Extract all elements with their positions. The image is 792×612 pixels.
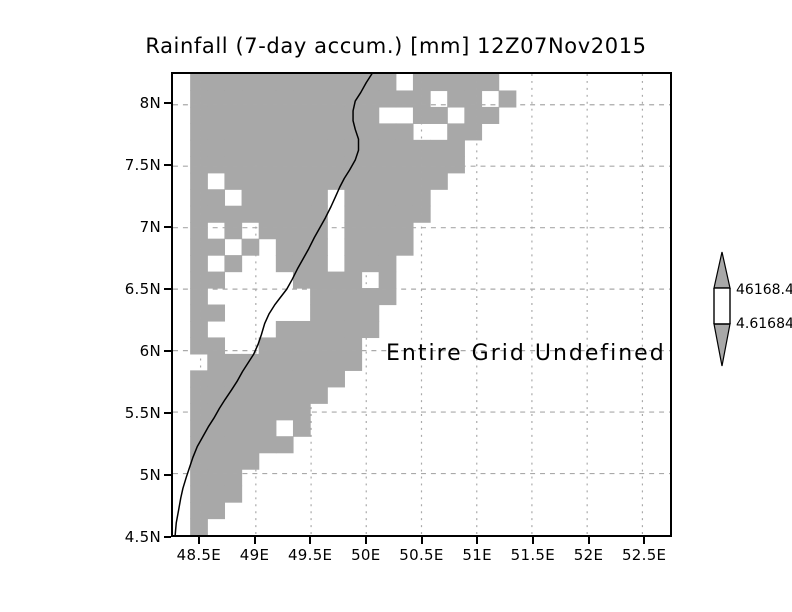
shaded-cell: [259, 337, 277, 354]
shaded-cell: [276, 173, 294, 190]
y-axis-tick-mark: [164, 412, 171, 414]
shaded-cell: [190, 272, 208, 289]
shaded-cell: [242, 123, 260, 140]
shaded-cell: [310, 370, 328, 387]
shaded-cell: [362, 140, 380, 157]
shaded-cell: [310, 206, 328, 223]
shaded-cell: [327, 354, 345, 371]
shaded-cell: [310, 107, 328, 124]
shaded-cell: [344, 321, 362, 338]
shaded-cell: [259, 74, 277, 91]
shaded-cell: [190, 469, 208, 486]
shaded-cell: [259, 370, 277, 387]
shaded-cell: [276, 239, 294, 256]
shaded-cell: [310, 255, 328, 272]
shaded-cell: [293, 173, 311, 190]
shaded-cell: [293, 370, 311, 387]
shaded-cell: [396, 189, 414, 206]
y-axis-tick-mark: [164, 226, 171, 228]
shaded-cell: [224, 453, 242, 470]
shaded-cell: [293, 420, 311, 437]
shaded-cell: [207, 107, 225, 124]
x-axis-tick-mark: [643, 537, 645, 544]
shaded-cell: [207, 206, 225, 223]
shaded-cell: [362, 239, 380, 256]
shaded-cell: [259, 156, 277, 173]
shaded-cell: [327, 123, 345, 140]
shaded-cell: [379, 222, 397, 239]
shaded-cell: [224, 206, 242, 223]
shaded-cell: [207, 239, 225, 256]
shaded-cell: [396, 239, 414, 256]
shaded-cell: [224, 222, 242, 239]
shaded-cell: [276, 107, 294, 124]
y-axis-tick-label: 6N: [95, 342, 161, 360]
shaded-cell: [293, 74, 311, 91]
shaded-cell: [207, 189, 225, 206]
x-axis-tick-label: 51.5E: [511, 546, 555, 564]
shaded-cell: [293, 123, 311, 140]
shaded-cell: [413, 173, 431, 190]
shaded-cell: [190, 222, 208, 239]
shaded-cell: [190, 420, 208, 437]
y-axis-tick-label: 4.5N: [95, 528, 161, 546]
shaded-cell: [293, 189, 311, 206]
shaded-cell: [344, 206, 362, 223]
shaded-cell: [464, 107, 482, 124]
shaded-cell: [327, 272, 345, 289]
shaded-cell: [224, 469, 242, 486]
shaded-cell: [224, 123, 242, 140]
shaded-cell: [190, 74, 208, 91]
shaded-cell: [344, 354, 362, 371]
y-axis-tick-label: 5N: [95, 466, 161, 484]
shaded-cell: [224, 354, 242, 371]
shaded-cell: [327, 321, 345, 338]
shaded-cell: [242, 107, 260, 124]
shaded-cell: [207, 387, 225, 404]
shaded-cell: [293, 337, 311, 354]
shaded-cell: [327, 370, 345, 387]
x-axis-tick-mark: [476, 537, 478, 544]
colorbar-top-arrow: [714, 252, 730, 288]
shaded-cell: [207, 140, 225, 157]
shaded-cell: [362, 222, 380, 239]
shaded-cell: [430, 156, 448, 173]
y-axis-tick-label: 6.5N: [95, 280, 161, 298]
shaded-cell: [190, 255, 208, 272]
shaded-cell: [259, 107, 277, 124]
shaded-cell: [276, 337, 294, 354]
shaded-cell: [362, 123, 380, 140]
shaded-cell: [276, 156, 294, 173]
shaded-cell: [276, 354, 294, 371]
shaded-cell: [379, 140, 397, 157]
shaded-cell: [379, 272, 397, 289]
shaded-cell: [259, 206, 277, 223]
shaded-cell: [447, 123, 465, 140]
shaded-cell: [396, 123, 414, 140]
shaded-cell: [293, 387, 311, 404]
shaded-cell: [276, 74, 294, 91]
shaded-cell: [207, 370, 225, 387]
y-axis-tick-mark: [164, 288, 171, 290]
shaded-cell: [276, 222, 294, 239]
shaded-cell: [344, 305, 362, 322]
shaded-cell: [190, 156, 208, 173]
x-axis-tick-label: 48.5E: [177, 546, 221, 564]
shaded-cell: [310, 272, 328, 289]
shaded-cell: [310, 140, 328, 157]
colorbar-label-upper: 46168.4: [736, 282, 792, 298]
shaded-cell: [396, 206, 414, 223]
shaded-cell: [293, 107, 311, 124]
shaded-cell: [430, 74, 448, 91]
shaded-cell: [276, 123, 294, 140]
shaded-cell: [207, 502, 225, 519]
shaded-cell: [224, 107, 242, 124]
colorbar-label-lower: 4.61684: [736, 316, 792, 332]
shaded-cell: [310, 321, 328, 338]
shaded-cell: [259, 387, 277, 404]
shaded-cell: [464, 123, 482, 140]
shaded-cell: [327, 74, 345, 91]
x-axis-tick-mark: [532, 537, 534, 544]
shaded-cell: [190, 189, 208, 206]
shaded-cell: [481, 74, 499, 91]
shaded-cell: [207, 156, 225, 173]
shaded-cell: [447, 74, 465, 91]
y-axis-tick-label: 7N: [95, 218, 161, 236]
shaded-cell: [190, 519, 208, 535]
shaded-cell: [430, 173, 448, 190]
shaded-cell: [293, 255, 311, 272]
x-axis-tick-mark: [309, 537, 311, 544]
shaded-cell: [379, 206, 397, 223]
shaded-cell: [396, 140, 414, 157]
shaded-cell: [276, 255, 294, 272]
shaded-cell: [190, 140, 208, 157]
shaded-cell: [207, 305, 225, 322]
shaded-cell: [207, 337, 225, 354]
shaded-cell: [362, 107, 380, 124]
shaded-cell: [344, 123, 362, 140]
shaded-cell: [344, 255, 362, 272]
shaded-cell: [447, 140, 465, 157]
shaded-cell: [276, 387, 294, 404]
map-canvas: [173, 74, 670, 535]
shaded-cell: [259, 222, 277, 239]
shaded-cell: [396, 156, 414, 173]
shaded-cell: [293, 239, 311, 256]
x-axis-tick-label: 52.5E: [622, 546, 666, 564]
shaded-cell: [362, 156, 380, 173]
shaded-cell: [379, 239, 397, 256]
x-axis-tick-label: 49.5E: [288, 546, 332, 564]
shaded-cell: [190, 107, 208, 124]
x-axis-tick-label: 49E: [240, 546, 269, 564]
y-axis-tick-mark: [164, 350, 171, 352]
shaded-cell: [259, 173, 277, 190]
shaded-cell: [259, 420, 277, 437]
shaded-cell: [224, 255, 242, 272]
shaded-cell: [430, 107, 448, 124]
shaded-cell: [190, 173, 208, 190]
shaded-cell: [259, 140, 277, 157]
shaded-cell: [310, 305, 328, 322]
shaded-cell: [224, 156, 242, 173]
x-axis-tick-mark: [365, 537, 367, 544]
shaded-cell: [242, 74, 260, 91]
shaded-cell: [242, 189, 260, 206]
shaded-cell: [310, 189, 328, 206]
shaded-cell: [327, 337, 345, 354]
shaded-cell: [362, 189, 380, 206]
shaded-cell: [190, 288, 208, 305]
shaded-cell: [293, 140, 311, 157]
shaded-cell: [327, 288, 345, 305]
shaded-cell: [224, 173, 242, 190]
shaded-cell: [293, 222, 311, 239]
shaded-cell: [224, 370, 242, 387]
y-axis-tick-mark: [164, 536, 171, 538]
shaded-cell: [259, 436, 277, 453]
entire-grid-undefined-note: Entire Grid Undefined: [386, 341, 666, 366]
shaded-cell: [413, 189, 431, 206]
colorbar-middle-band: [714, 288, 730, 324]
shaded-cell: [430, 140, 448, 157]
x-axis-tick-mark: [421, 537, 423, 544]
shaded-cell: [293, 321, 311, 338]
shaded-cell: [327, 140, 345, 157]
shaded-cell: [190, 387, 208, 404]
x-axis-tick-mark: [254, 537, 256, 544]
shaded-cell: [242, 156, 260, 173]
shaded-cell: [310, 288, 328, 305]
shaded-cell: [190, 502, 208, 519]
shaded-cell: [464, 74, 482, 91]
shaded-cell: [207, 272, 225, 289]
y-axis-tick-mark: [164, 164, 171, 166]
shaded-cell: [362, 321, 380, 338]
shaded-cell: [310, 74, 328, 91]
shaded-cell: [276, 140, 294, 157]
shaded-cell: [224, 486, 242, 503]
shaded-cell: [293, 206, 311, 223]
x-axis-tick-mark: [198, 537, 200, 544]
shaded-cell: [344, 288, 362, 305]
shaded-cell: [362, 173, 380, 190]
y-axis-tick-label: 7.5N: [95, 156, 161, 174]
shaded-cell: [310, 123, 328, 140]
shaded-cell: [242, 173, 260, 190]
shaded-cell: [190, 337, 208, 354]
shaded-cell: [242, 387, 260, 404]
y-axis-tick-mark: [164, 102, 171, 104]
shaded-cell: [344, 222, 362, 239]
shaded-cell: [190, 453, 208, 470]
shaded-cell: [310, 354, 328, 371]
shaded-cell: [344, 337, 362, 354]
shaded-cell: [379, 255, 397, 272]
shaded-cell: [207, 469, 225, 486]
shaded-cell: [207, 354, 225, 371]
shaded-cell: [362, 305, 380, 322]
x-axis-tick-label: 50E: [351, 546, 380, 564]
shaded-cell: [242, 370, 260, 387]
shaded-cell: [224, 436, 242, 453]
shaded-cell: [362, 206, 380, 223]
shaded-cell: [224, 420, 242, 437]
shaded-cell: [190, 305, 208, 322]
shaded-cell: [276, 206, 294, 223]
y-axis-tick-label: 8N: [95, 94, 161, 112]
shaded-cell: [207, 486, 225, 503]
colorbar[interactable]: [705, 250, 739, 370]
shaded-cell: [379, 123, 397, 140]
colorbar-swatches: [705, 250, 739, 370]
shaded-cell: [310, 337, 328, 354]
shaded-cell: [259, 123, 277, 140]
shaded-cell: [481, 107, 499, 124]
shaded-cell: [310, 173, 328, 190]
shaded-cell: [207, 420, 225, 437]
shaded-cell: [344, 272, 362, 289]
shaded-cell: [413, 140, 431, 157]
shaded-cell: [276, 436, 294, 453]
shaded-cell: [190, 321, 208, 338]
shaded-cell: [276, 321, 294, 338]
shaded-cell: [242, 453, 260, 470]
shaded-cell: [224, 74, 242, 91]
shaded-cell: [242, 206, 260, 223]
colorbar-bottom-arrow: [714, 324, 730, 366]
y-axis-tick-mark: [164, 474, 171, 476]
shaded-cell: [327, 107, 345, 124]
shaded-cell: [379, 156, 397, 173]
shaded-cell: [242, 420, 260, 437]
shaded-cell: [224, 140, 242, 157]
shaded-cell: [344, 74, 362, 91]
shaded-cell: [293, 156, 311, 173]
shaded-cell: [327, 305, 345, 322]
shaded-cell: [242, 239, 260, 256]
shaded-cell: [259, 354, 277, 371]
map-plot-area[interactable]: Entire Grid Undefined: [171, 72, 672, 537]
shaded-cell: [242, 140, 260, 157]
shaded-cell: [190, 239, 208, 256]
shaded-cell: [276, 370, 294, 387]
shaded-cell: [242, 436, 260, 453]
shaded-cell: [327, 156, 345, 173]
page-title: Rainfall (7-day accum.) [mm] 12Z07Nov201…: [0, 34, 792, 58]
shaded-cell: [190, 123, 208, 140]
shaded-cell: [379, 74, 397, 91]
shaded-cell: [379, 288, 397, 305]
shaded-cell: [259, 189, 277, 206]
shaded-cell: [276, 189, 294, 206]
shaded-cell: [344, 239, 362, 256]
shaded-cell: [362, 255, 380, 272]
x-axis-tick-label: 52E: [574, 546, 603, 564]
shaded-cell: [190, 206, 208, 223]
shaded-cell: [447, 156, 465, 173]
shaded-cell: [310, 156, 328, 173]
y-axis-tick-label: 5.5N: [95, 404, 161, 422]
shaded-cell: [293, 354, 311, 371]
shaded-cell: [207, 453, 225, 470]
shaded-cell: [190, 486, 208, 503]
shaded-cell: [310, 387, 328, 404]
shaded-cell: [344, 189, 362, 206]
shaded-cell: [396, 173, 414, 190]
x-axis-tick-label: 51E: [462, 546, 491, 564]
shaded-cell: [190, 370, 208, 387]
shaded-cell: [396, 222, 414, 239]
shaded-cell: [379, 173, 397, 190]
shaded-cell: [362, 288, 380, 305]
shaded-cell: [344, 140, 362, 157]
shaded-cell: [207, 436, 225, 453]
shaded-cell: [207, 123, 225, 140]
x-axis-tick-mark: [588, 537, 590, 544]
x-axis-tick-label: 50.5E: [399, 546, 443, 564]
shaded-cell: [207, 74, 225, 91]
shaded-cell: [379, 189, 397, 206]
shaded-cells-layer: [190, 74, 516, 535]
